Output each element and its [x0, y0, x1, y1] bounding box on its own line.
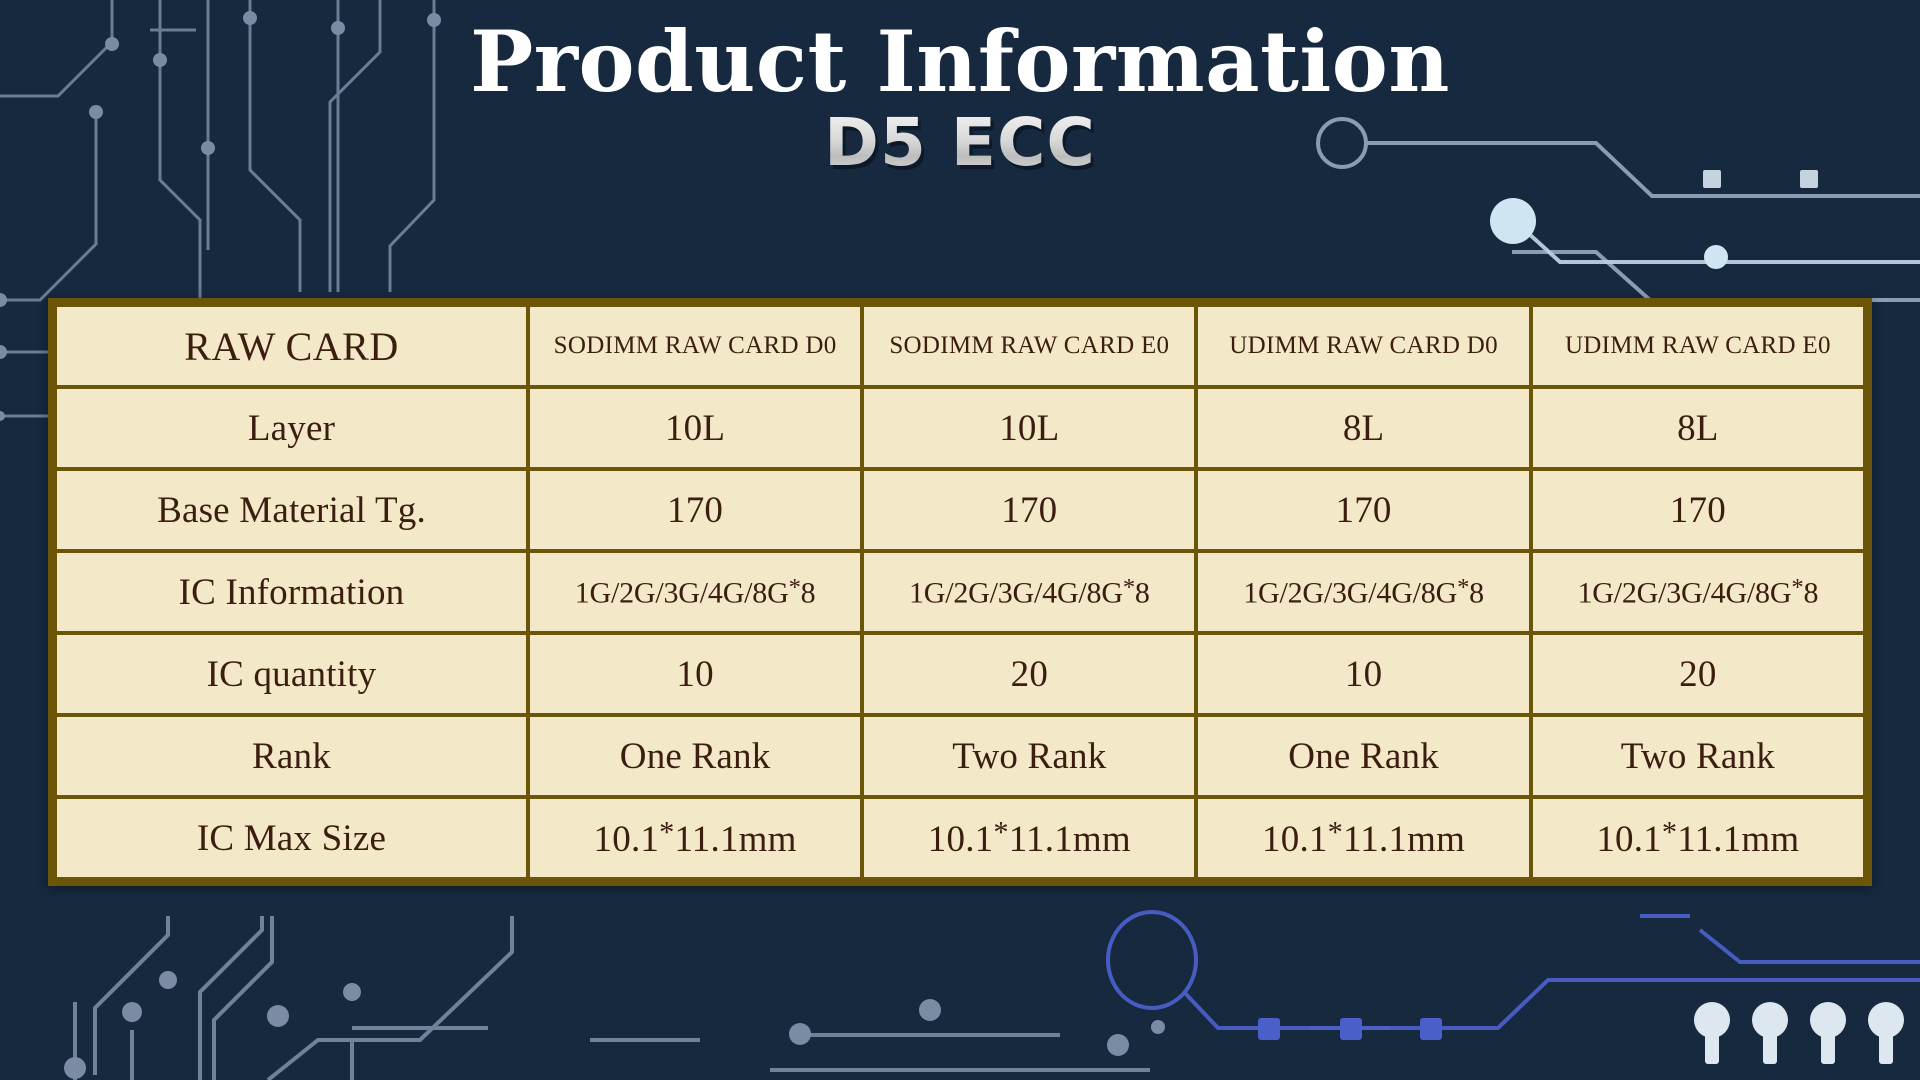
table-header-row: RAW CARDSODIMM RAW CARD D0SODIMM RAW CAR…	[57, 307, 1863, 385]
table-header-cell-1: SODIMM RAW CARD D0	[530, 307, 860, 385]
row-0-value-1: 10L	[864, 389, 1194, 467]
table-header-cell-rawcard: RAW CARD	[57, 307, 526, 385]
row-4-value-1: Two Rank	[864, 717, 1194, 795]
row-3-value-2: 10	[1198, 635, 1528, 713]
row-5-value-2: 10.1*11.1mm	[1198, 799, 1528, 877]
row-5-value-1: 10.1*11.1mm	[864, 799, 1194, 877]
row-4-value-2: One Rank	[1198, 717, 1528, 795]
row-3-value-3: 20	[1533, 635, 1863, 713]
row-label-2: IC Information	[57, 553, 526, 631]
row-2-value-0: 1G/2G/3G/4G/8G*8	[530, 553, 860, 631]
row-0-value-2: 8L	[1198, 389, 1528, 467]
row-1-value-1: 170	[864, 471, 1194, 549]
slide-header: Product Information D5 ECC	[0, 0, 1920, 176]
row-label-1: Base Material Tg.	[57, 471, 526, 549]
row-2-value-3: 1G/2G/3G/4G/8G*8	[1533, 553, 1863, 631]
table-header-cell-2: SODIMM RAW CARD E0	[864, 307, 1194, 385]
table-row: RankOne RankTwo RankOne RankTwo Rank	[57, 717, 1863, 795]
table-header-cell-4: UDIMM RAW CARD E0	[1533, 307, 1863, 385]
row-1-value-3: 170	[1533, 471, 1863, 549]
row-1-value-2: 170	[1198, 471, 1528, 549]
spec-table: RAW CARDSODIMM RAW CARD D0SODIMM RAW CAR…	[53, 303, 1867, 881]
table-row: IC Max Size10.1*11.1mm10.1*11.1mm10.1*11…	[57, 799, 1863, 877]
row-3-value-0: 10	[530, 635, 860, 713]
table-row: Base Material Tg.170170170170	[57, 471, 1863, 549]
row-4-value-3: Two Rank	[1533, 717, 1863, 795]
row-5-value-3: 10.1*11.1mm	[1533, 799, 1863, 877]
row-2-value-2: 1G/2G/3G/4G/8G*8	[1198, 553, 1528, 631]
row-label-4: Rank	[57, 717, 526, 795]
slide-canvas: Product Information D5 ECC RAW CARDSODIM…	[0, 0, 1920, 1080]
spec-table-container: RAW CARDSODIMM RAW CARD D0SODIMM RAW CAR…	[48, 298, 1872, 886]
table-header-cell-3: UDIMM RAW CARD D0	[1198, 307, 1528, 385]
row-3-value-1: 20	[864, 635, 1194, 713]
row-2-value-1: 1G/2G/3G/4G/8G*8	[864, 553, 1194, 631]
row-0-value-0: 10L	[530, 389, 860, 467]
table-row: IC Information1G/2G/3G/4G/8G*81G/2G/3G/4…	[57, 553, 1863, 631]
row-1-value-0: 170	[530, 471, 860, 549]
table-row: IC quantity10201020	[57, 635, 1863, 713]
page-title: Product Information	[0, 0, 1920, 106]
table-row: Layer10L10L8L8L	[57, 389, 1863, 467]
row-4-value-0: One Rank	[530, 717, 860, 795]
row-0-value-3: 8L	[1533, 389, 1863, 467]
page-subtitle: D5 ECC	[0, 110, 1920, 176]
row-label-5: IC Max Size	[57, 799, 526, 877]
row-label-0: Layer	[57, 389, 526, 467]
row-label-3: IC quantity	[57, 635, 526, 713]
row-5-value-0: 10.1*11.1mm	[530, 799, 860, 877]
